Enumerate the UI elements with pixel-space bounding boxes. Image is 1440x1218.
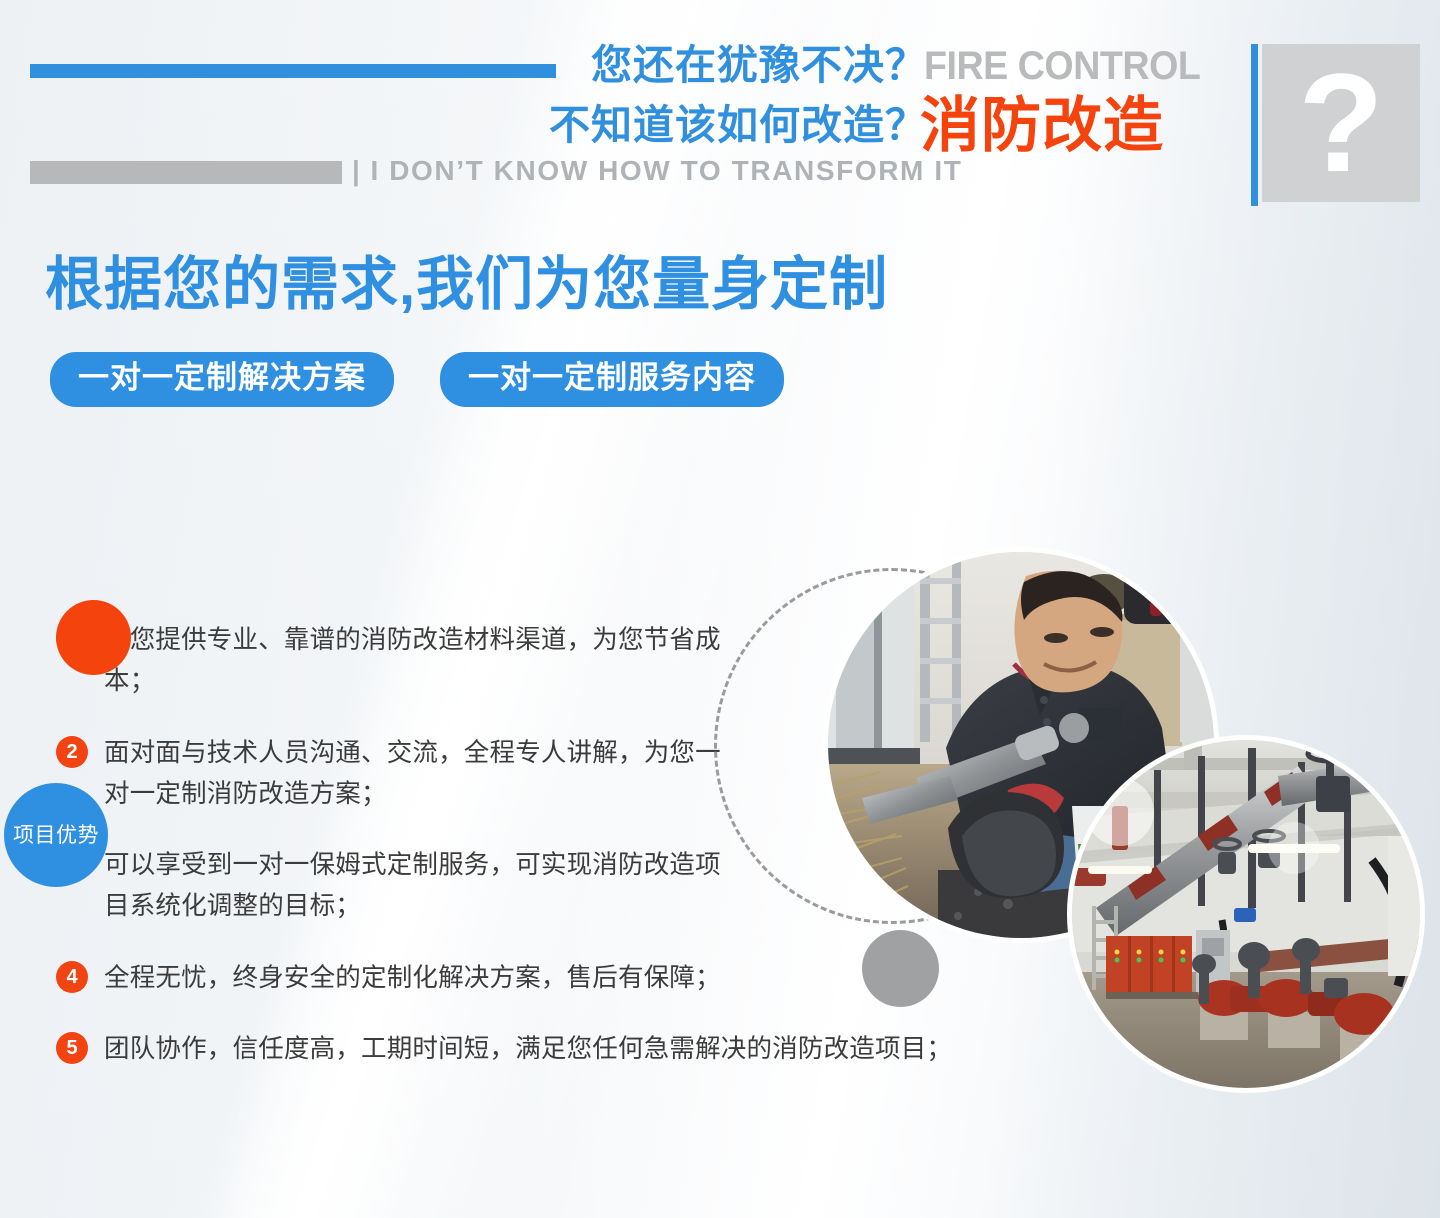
list-item: 3 可以享受到一对一保姆式定制服务，可实现消防改造项目系统化调整的目标； (56, 845, 736, 928)
pill-custom-solution[interactable]: 一对一定制解决方案 (50, 352, 394, 407)
list-item: 2 面对面与技术人员沟通、交流，全程专人讲解，为您一对一定制消防改造方案； (56, 733, 736, 816)
list-item-number: 2 (56, 736, 88, 768)
header-question-line2: 不知道该如何改造？ (549, 105, 927, 146)
list-item-number: 5 (56, 1032, 88, 1064)
pill-custom-service[interactable]: 一对一定制服务内容 (440, 352, 784, 407)
page-root: 您还在犹豫不决？ 不知道该如何改造？ |I DON’T KNOW HOW TO … (0, 0, 1440, 1218)
vertical-bar-icon: | (352, 157, 361, 185)
project-advantage-badge-label: 项目优势 (13, 825, 99, 846)
question-block-blue-rule (1251, 44, 1258, 206)
header-gray-bar (30, 161, 342, 184)
header-blue-bar (30, 64, 556, 78)
list-item-text: 面对面与技术人员沟通、交流，全程专人讲解，为您一对一定制消防改造方案； (104, 733, 736, 816)
question-mark-block: ? (1251, 44, 1440, 206)
list-item-text: 团队协作，信任度高，工期时间短，满足您任何急需解决的消防改造项目； (104, 1029, 1124, 1070)
header-chinese-title: 消防改造 (920, 96, 1164, 156)
header-english-subtitle-text: I DON’T KNOW HOW TO TRANSFORM IT (370, 155, 962, 186)
gray-dot (862, 930, 939, 1007)
header-english-subtitle: |I DON’T KNOW HOW TO TRANSFORM IT (352, 157, 962, 185)
page-title: 根据您的需求,我们为您量身定制 (45, 250, 888, 320)
header-english-title: FIRE CONTROL (924, 46, 1200, 86)
list-item-number: 4 (56, 961, 88, 993)
orange-dot (56, 600, 131, 675)
list-item-text: 全程无忧，终身安全的定制化解决方案，售后有保障； (104, 958, 1124, 999)
header-banner: 您还在犹豫不决？ 不知道该如何改造？ |I DON’T KNOW HOW TO … (0, 0, 1440, 215)
project-advantage-badge: 项目优势 (4, 783, 108, 887)
list-item: 5 团队协作，信任度高，工期时间短，满足您任何急需解决的消防改造项目； (56, 1029, 1124, 1070)
question-mark-icon: ? (1262, 44, 1420, 202)
photo-fire-pump-room (1072, 740, 1420, 1088)
advantages-list: 1 为您提供专业、靠谱的消防改造材料渠道，为您节省成本； 2 面对面与技术人员沟… (56, 620, 736, 1092)
question-block-gray-box: ? (1262, 44, 1420, 202)
list-item: 1 为您提供专业、靠谱的消防改造材料渠道，为您节省成本； (56, 620, 736, 703)
list-item: 4 全程无忧，终身安全的定制化解决方案，售后有保障； (56, 958, 1124, 999)
pill-row: 一对一定制解决方案 一对一定制服务内容 (50, 352, 784, 407)
list-item-text: 可以享受到一对一保姆式定制服务，可实现消防改造项目系统化调整的目标； (104, 845, 736, 928)
header-question-line1: 您还在犹豫不决？ (591, 45, 927, 86)
list-item-text: 为您提供专业、靠谱的消防改造材料渠道，为您节省成本； (104, 620, 736, 703)
